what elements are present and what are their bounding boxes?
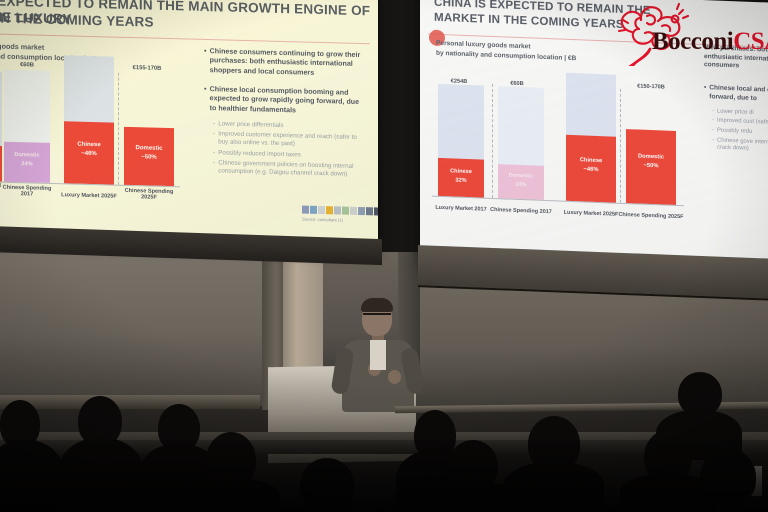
bar-red-segment: Domestic ~50% — [124, 127, 174, 186]
bar-luxury-market-2025f: Chinese ~46% — [566, 73, 616, 203]
chart-divider — [118, 73, 119, 185]
bullet-item: Chinese local consumption booming and ex… — [204, 85, 364, 117]
left-slide-chart: Luxury Market 2017 €60B Domestic 24% Chi… — [0, 63, 188, 209]
logo-bar-swatch — [318, 206, 325, 214]
bar-luxury-market-2025f: Chinese ~46% — [64, 55, 114, 184]
logo-bar-swatch — [326, 206, 333, 214]
bar-segment-pct: ~46% — [566, 166, 616, 175]
left-slide: S EXPECTED TO REMAIN THE MAIN GROWTH ENG… — [0, 0, 378, 254]
bar-red-segment: Chinese ~46% — [64, 121, 114, 184]
speaker-hair — [361, 298, 393, 312]
left-slide-bullets: Chinese consumers continuing to grow the… — [204, 47, 364, 181]
logo-bar-swatch — [302, 206, 309, 214]
bar-luxury-market-2017 — [0, 71, 2, 182]
bar-segment-label: Domestic — [498, 172, 544, 180]
logo-bar-swatch — [374, 207, 378, 215]
logo-bar-swatch — [358, 207, 365, 215]
logo-bar-swatch — [342, 207, 349, 215]
bar-segment-pct: 32% — [438, 177, 484, 185]
bar-chinese-spending-2017: Domestic 24% — [498, 86, 544, 200]
audience-head — [300, 458, 354, 512]
bar-chinese-spending-2017: Domestic 24% — [4, 70, 50, 183]
sub-bullet-item: Chinese gove internal consu crack down) — [712, 137, 768, 155]
sub-bullet-item: Improved customer experience and reach (… — [213, 131, 364, 151]
audience-shoulders — [184, 478, 280, 512]
logo-bar-swatch — [350, 207, 357, 215]
speaker-right-hand — [388, 370, 401, 384]
bar-category-label: Luxury Market 2025F — [558, 210, 624, 219]
bar-category-label: Chinese Spending 2025F — [116, 187, 182, 202]
desk-row-upper — [0, 395, 260, 409]
speaker-presenter — [330, 300, 426, 410]
audience-shoulders — [656, 410, 742, 460]
bar-value-label: €155-170B — [120, 65, 174, 72]
bar-category-label: Chinese Spending 2017 — [490, 207, 552, 216]
logo-bar-swatch — [310, 206, 317, 214]
left-chart-subtitle-line1: ury goods market — [0, 41, 44, 52]
logo-word-bocconi: Bocconi — [652, 28, 733, 55]
logo-wordmark: BocconiCSA — [652, 28, 768, 56]
bar-category-label: Luxury Market 2017 — [430, 205, 492, 214]
chart-divider — [620, 89, 621, 203]
bar-segment-pct: 24% — [498, 181, 544, 189]
bar-red-segment: Chinese ~46% — [566, 135, 616, 203]
lecture-hall-photo: S EXPECTED TO REMAIN THE MAIN GROWTH ENG… — [0, 0, 768, 512]
logo-bar-swatch — [334, 206, 341, 214]
bar-segment-label: Chinese — [566, 157, 616, 166]
bocconi-csa-logo: BocconiCSA — [584, 2, 768, 66]
bar-red-segment: Chinese 32% — [438, 158, 484, 198]
bar-segment-pct: ~50% — [626, 162, 676, 171]
right-slide-chart: €254B Chinese 32% Luxury Market 2017 €60… — [430, 60, 694, 242]
bullet-item: Chinese consumers continuing to grow the… — [204, 47, 364, 79]
bar-red-segment — [0, 145, 2, 182]
audience-shoulders — [0, 440, 64, 512]
bar-segment-label: Chinese — [64, 141, 114, 149]
bullet-item: Chinese local and expected t forward, du… — [704, 84, 768, 105]
partner-logo-bar — [302, 206, 378, 216]
bar-value-label: €150-170B — [622, 83, 680, 91]
bar-segment-label: Domestic — [626, 153, 676, 162]
bar-category-label: Chinese Spending 2017 — [0, 184, 58, 199]
bar-segment-pct: ~46% — [64, 150, 114, 158]
bar-red-segment: Domestic ~50% — [626, 129, 676, 205]
bar-segment-pct: ~50% — [124, 154, 174, 162]
audience-shoulders — [58, 438, 144, 512]
bar-value-label: €60B — [4, 62, 50, 69]
left-projection-screen: S EXPECTED TO REMAIN THE MAIN GROWTH ENG… — [0, 0, 378, 255]
speaker-shirt — [370, 340, 386, 370]
left-wall-section — [0, 246, 292, 406]
sub-bullet-item: Chinese government policies on boosting … — [213, 159, 364, 179]
bar-chinese-spending-2025f: Domestic ~50% — [124, 127, 174, 186]
logo-bar-swatch — [366, 207, 373, 215]
bar-domestic-segment: Domestic 24% — [4, 142, 50, 183]
bar-domestic-segment: Domestic 24% — [498, 164, 544, 200]
logo-word-csa: CSA — [733, 28, 768, 55]
audience-shoulders — [504, 462, 604, 512]
bar-luxury-market-2017: Chinese 32% — [438, 84, 484, 198]
bar-chinese-spending-2025f: Domestic ~50% — [626, 129, 676, 205]
bar-category-label: Luxury Market 2025F — [56, 192, 122, 200]
bar-segment-label: Chinese — [438, 168, 484, 176]
speaker-glasses — [363, 313, 391, 320]
slide-footnote: Source: consultant (1) — [302, 217, 343, 223]
chart-divider — [492, 84, 493, 198]
bar-segment-pct: 24% — [4, 161, 50, 169]
bar-segment-label: Domestic — [124, 145, 174, 153]
bar-category-label: Chinese Spending 2025F — [618, 212, 684, 221]
bar-segment-label: Domestic — [4, 152, 50, 160]
